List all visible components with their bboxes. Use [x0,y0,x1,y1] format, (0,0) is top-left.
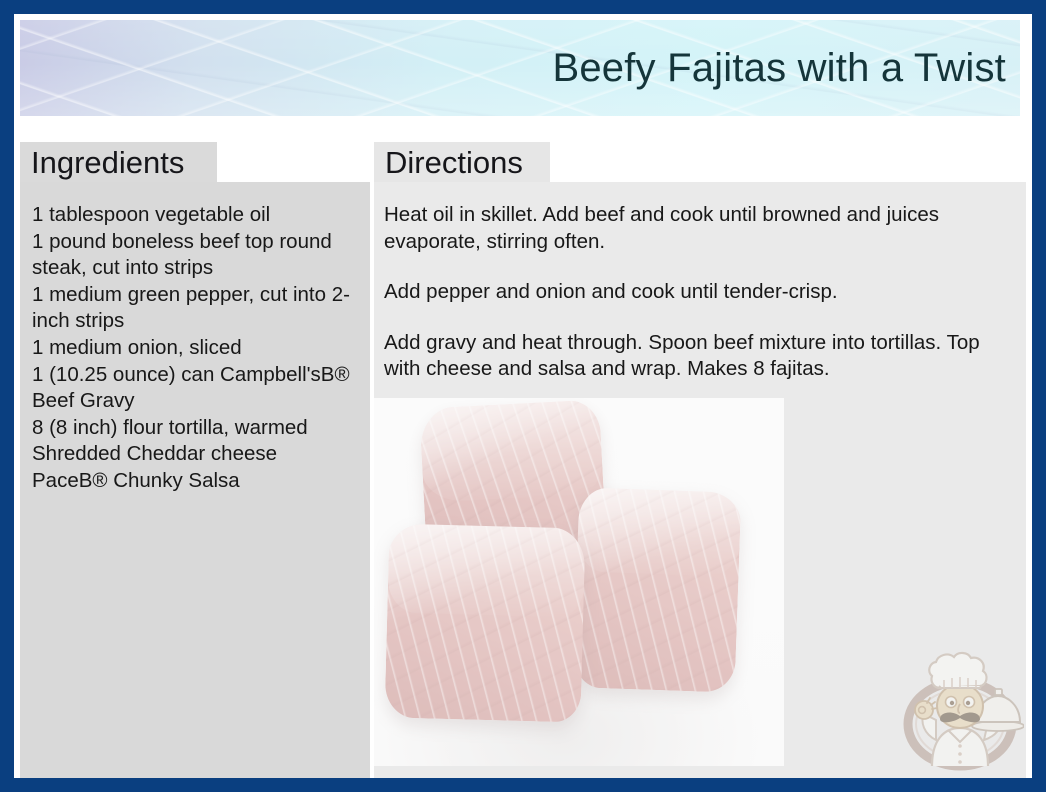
beef-highlight [577,487,742,577]
direction-step: Heat oil in skillet. Add beef and cook u… [384,202,1008,255]
list-item: PaceB® Chunky Salsa [32,468,358,495]
list-item: 8 (8 inch) flour tortilla, warmed [32,415,358,442]
list-item: 1 medium green pepper, cut into 2-inch s… [32,282,358,335]
list-item: 1 tablespoon vegetable oil [32,202,358,229]
beef-cube [384,523,585,722]
ingredients-heading: Ingredients [31,147,184,178]
list-item: 1 pound boneless beef top round steak, c… [32,229,358,282]
title-banner: Beefy Fajitas with a Twist [20,20,1020,116]
beef-highlight [387,523,585,617]
recipe-slide: Beefy Fajitas with a Twist Ingredients D… [0,0,1046,792]
beef-highlight [419,399,604,503]
beef-cubes-photo [374,398,784,766]
list-item: 1 (10.25 ounce) can Campbell'sB® Beef Gr… [32,362,358,415]
direction-step: Add gravy and heat through. Spoon beef m… [384,330,1008,383]
section-tab-directions: Directions [374,142,550,182]
page-title: Beefy Fajitas with a Twist [552,46,1006,90]
list-item: 1 medium onion, sliced [32,335,358,362]
list-item: Shredded Cheddar cheese [32,441,358,468]
beef-cube [573,487,742,693]
direction-step: Add pepper and onion and cook until tend… [384,279,1008,306]
directions-heading: Directions [385,147,523,178]
ingredients-panel: 1 tablespoon vegetable oil 1 pound bonel… [20,182,370,792]
ingredients-list: 1 tablespoon vegetable oil 1 pound bonel… [32,202,358,495]
chef-logo-icon [896,648,1024,774]
section-tab-ingredients: Ingredients [20,142,217,182]
